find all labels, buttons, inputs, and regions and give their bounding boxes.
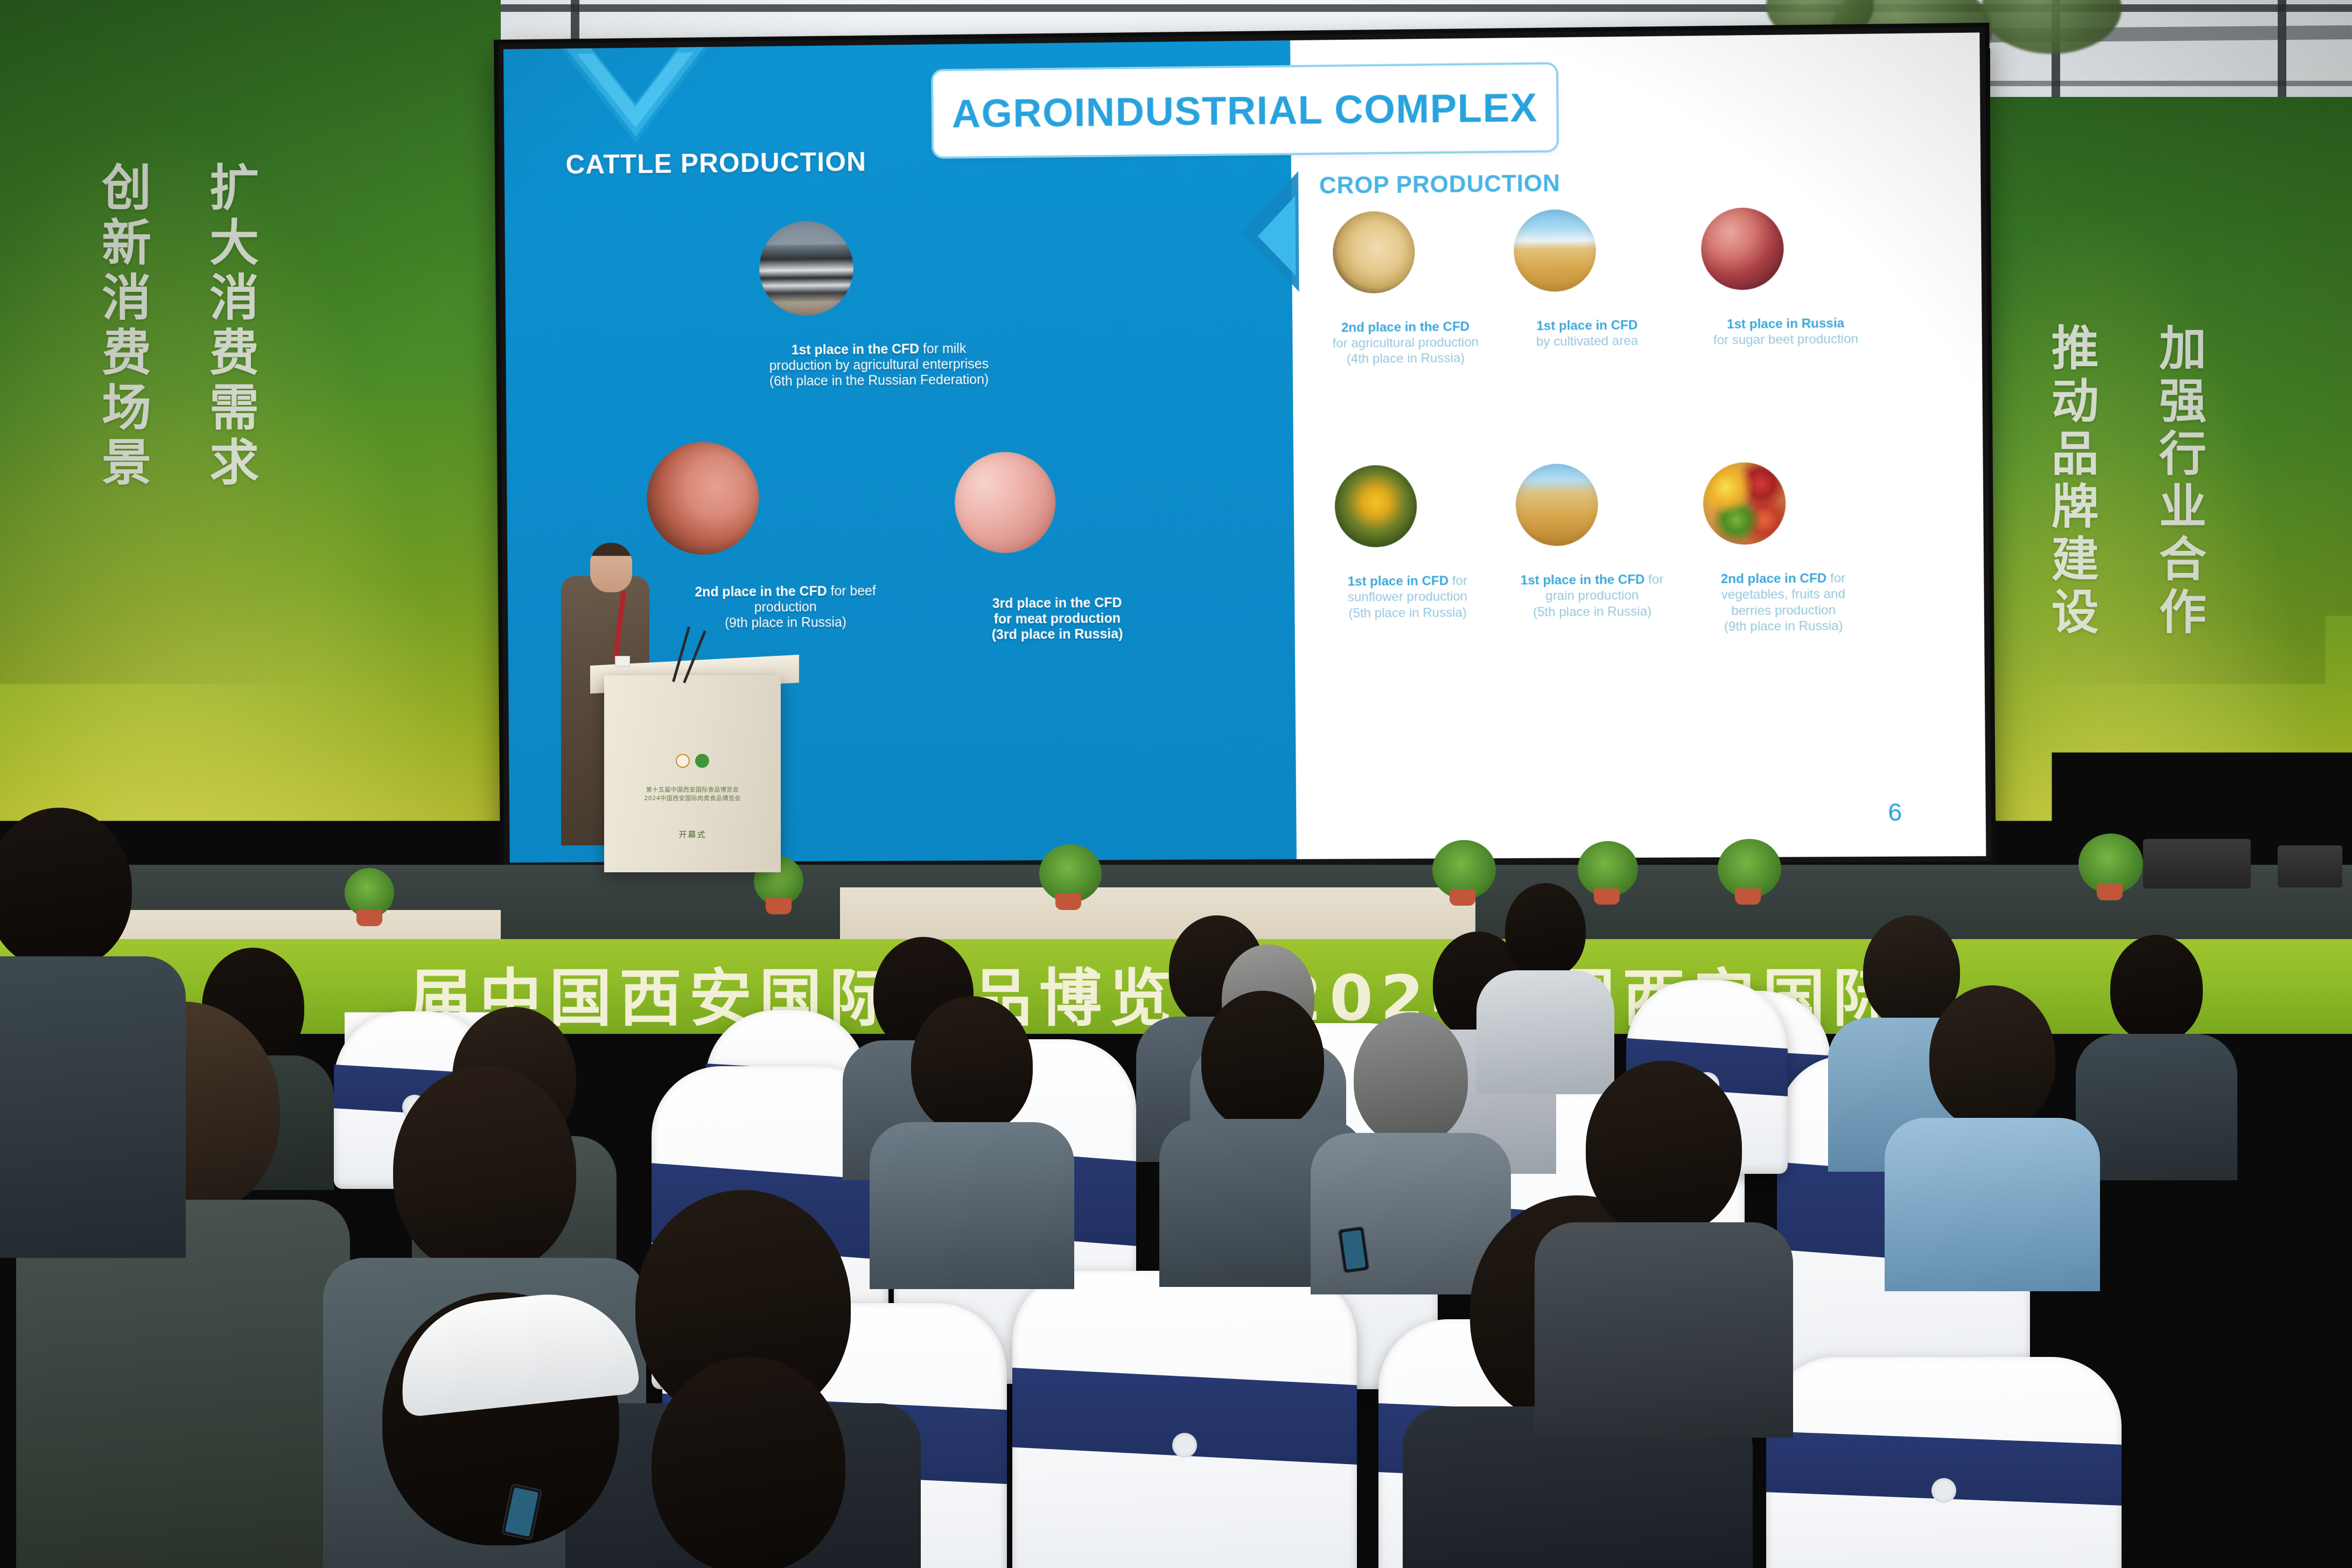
cattle-milk-bold: 1st place in the CFD	[792, 342, 920, 358]
right-banner-column-2: 加强行业合作	[2154, 323, 2204, 640]
right-banner-column-1: 推动品牌建设	[2046, 323, 2096, 640]
crop-6-rest: for	[1826, 571, 1845, 585]
left-green-banner-panel: 创新消费场景 扩大消费需求	[0, 0, 501, 915]
crop-1-bold: 2nd place in the CFD	[1341, 319, 1469, 335]
stage-plant-pot-6	[1735, 888, 1761, 905]
flower-arrangement	[712, 648, 817, 734]
audience-person-back-7	[2089, 935, 2224, 1172]
stage-plant-pot-7	[2097, 884, 2123, 900]
audience-person-front-3	[0, 808, 167, 1292]
chair-knot	[1172, 1433, 1197, 1458]
stage-plant-pot-4	[1450, 890, 1475, 906]
podium-line-1: 第十五届中国西安国际食品博览会	[604, 786, 781, 795]
sugar-beet-photo	[1700, 207, 1783, 290]
crop-4-bold: 1st place in CFD	[1348, 573, 1448, 589]
cattle-milk-rest: for milk	[919, 341, 966, 357]
cattle-meat-line3: (3rd place in Russia)	[873, 626, 1241, 643]
podium-logos	[676, 754, 709, 768]
stage-plant-pot-1	[356, 910, 382, 926]
audience-person-front-9	[1551, 1061, 1777, 1427]
right-green-banner-panel: 推动品牌建设 加强行业合作	[1982, 97, 2352, 921]
cattle-meat-line2: for meat production	[873, 610, 1241, 628]
crop-caption-sugar-beet: 1st place in Russia for sugar beet produ…	[1648, 314, 1923, 348]
crop-caption-fruits: 2nd place in CFD for vegetables, fruits …	[1653, 570, 1914, 635]
fruits-vegetables-photo	[1703, 463, 1786, 545]
crop-3-bold: 1st place in Russia	[1727, 316, 1844, 332]
cattle-caption-meat: 3rd place in the CFD for meat production…	[873, 594, 1242, 643]
audience-person-front-7	[2035, 1168, 2352, 1568]
crop-3-line2: for sugar beet production	[1648, 331, 1924, 349]
stage-monitor-speaker-2	[2278, 845, 2342, 887]
crop-production-heading: CROP PRODUCTION	[1319, 170, 1560, 200]
chair-knot	[1931, 1478, 1956, 1503]
cattle-meat-bold: 3rd place in the CFD	[992, 595, 1122, 611]
slide-page-number: 6	[1888, 797, 1902, 827]
organizer-logo-icon	[695, 754, 709, 768]
pork-meat-photo	[954, 452, 1056, 554]
crop-1-line3: (4th place in Russia)	[1284, 350, 1528, 368]
slide-title: AGROINDUSTRIAL COMPLEX	[951, 85, 1538, 137]
stage-monitor-speaker	[2143, 839, 2251, 888]
beef-cow-photo	[647, 442, 760, 555]
crop-6-line2: vegetables, fruits and	[1653, 586, 1914, 604]
stage-plant-pot-3	[1055, 894, 1081, 910]
crop-5-bold: 1st place in the CFD	[1521, 572, 1645, 588]
dairy-cows-photo	[759, 221, 854, 316]
cattle-caption-milk: 1st place in the CFD for milk production…	[652, 340, 1107, 390]
expo-logo-icon	[676, 754, 690, 768]
crop-6-line4: (9th place in Russia)	[1653, 618, 1914, 635]
triangle-decoration-inner-icon	[1257, 196, 1296, 276]
chair-frontmost-2	[1012, 1271, 1357, 1568]
podium-line-3: 开幕式	[604, 829, 781, 840]
stage-plant-pot-2	[766, 898, 792, 914]
crop-6-bold: 2nd place in CFD	[1721, 571, 1827, 586]
cattle-production-heading: CATTLE PRODUCTION	[565, 146, 866, 181]
conference-photo-scene: 创新消费场景 扩大消费需求 推动品牌建设 加强行业合作 AGROINDUSTRI…	[0, 0, 2352, 1568]
audience-person-mid-2	[883, 996, 1061, 1282]
podium-line-2: 2024中国西安国际肉类食品博览会	[604, 794, 781, 803]
slide-title-pill: AGROINDUSTRIAL COMPLEX	[931, 62, 1559, 159]
crop-4-rest: for	[1448, 573, 1467, 588]
crop-6-line3: berries production	[1653, 601, 1914, 619]
cattle-beef-rest: for beef	[827, 584, 876, 599]
crop-2-bold: 1st place in CFD	[1536, 318, 1637, 333]
slide-right-white-panel	[1290, 32, 1986, 859]
audience-person-back-8	[1486, 883, 1605, 1088]
speaker-head	[590, 543, 632, 592]
podium-event-titles: 第十五届中国西安国际食品博览会 2024中国西安国际肉类食品博览会	[604, 786, 781, 803]
left-banner-column-2: 扩大消费需求	[204, 162, 256, 491]
left-banner-column-1: 创新消费场景	[96, 162, 149, 491]
cattle-beef-bold: 2nd place in the CFD	[695, 584, 827, 600]
speaker-badge	[615, 656, 630, 667]
audience-person-front-8	[608, 1357, 888, 1568]
